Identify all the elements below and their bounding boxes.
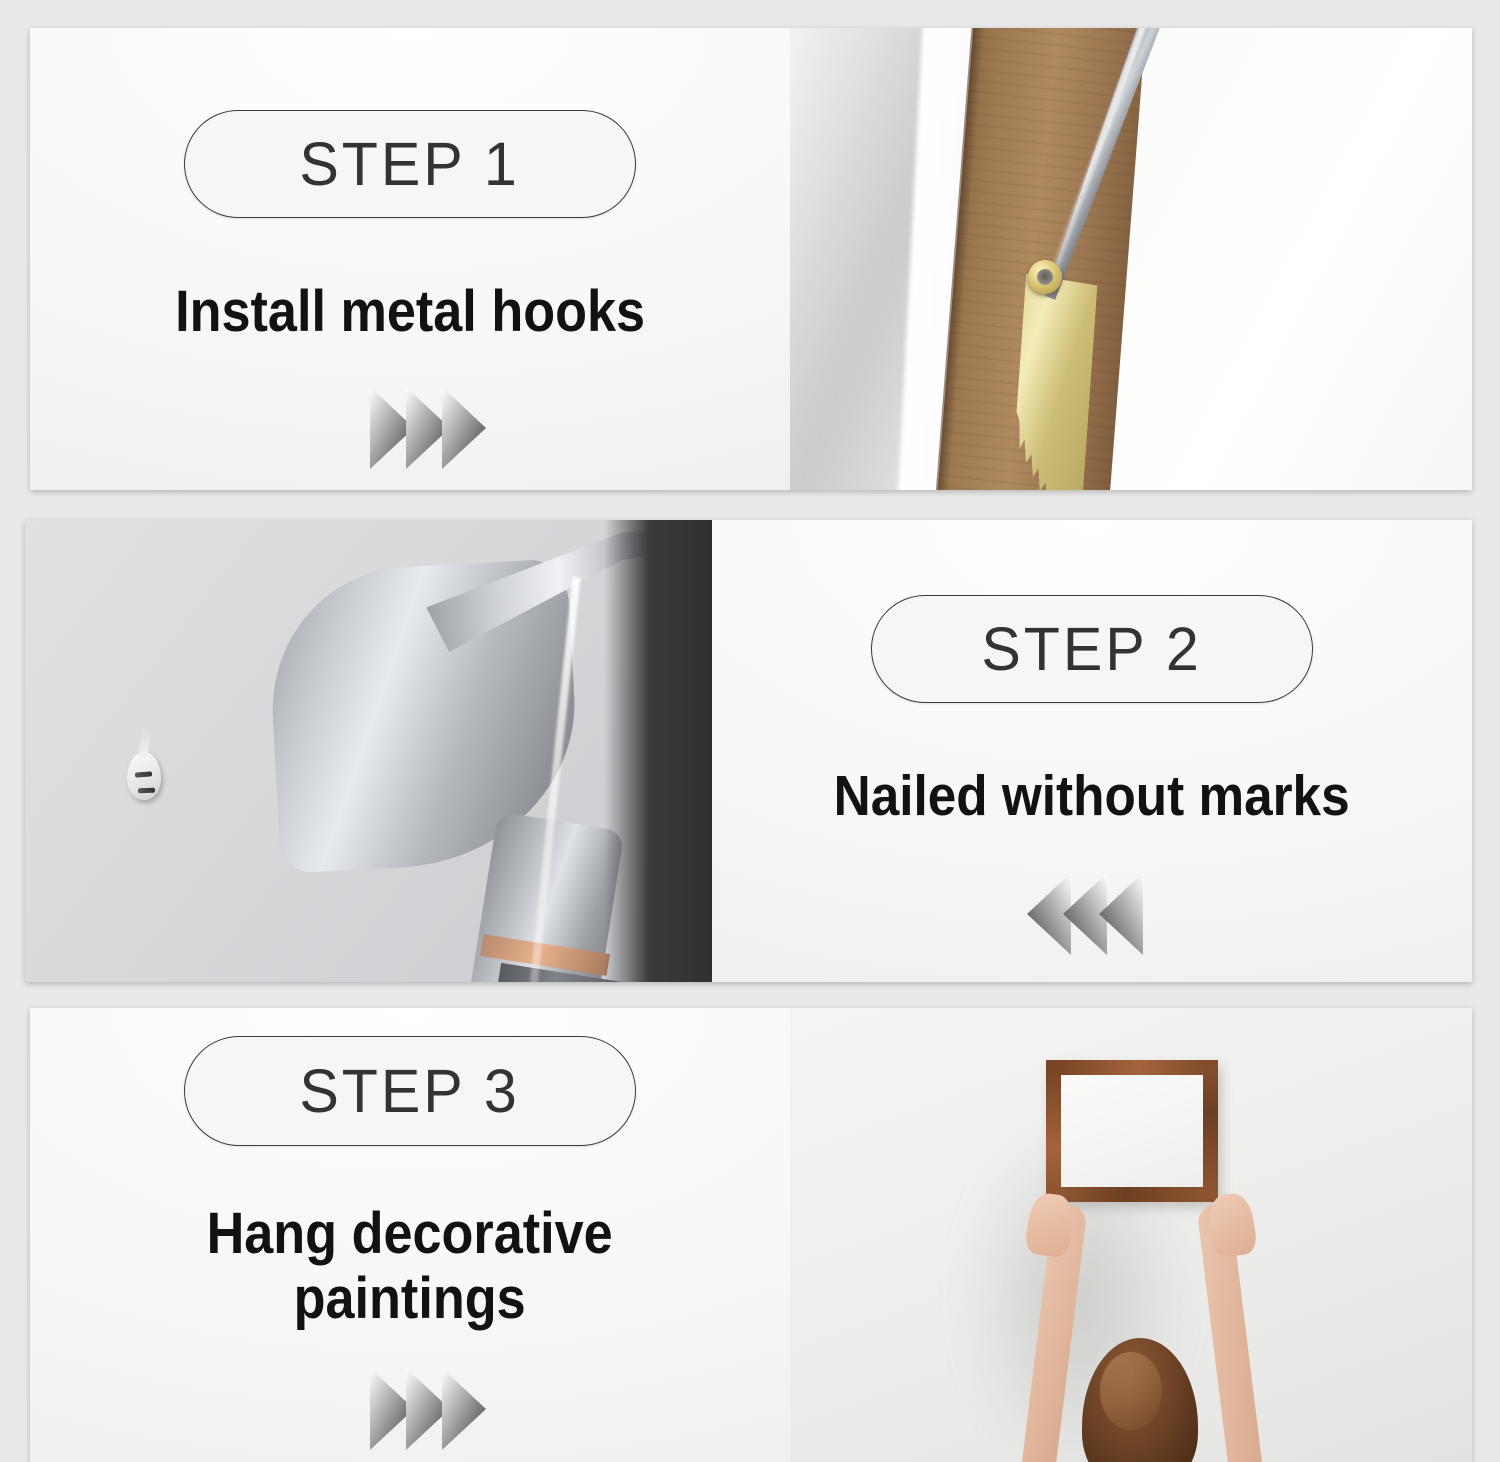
instruction-board: STEP 1 Install metal hooks xyxy=(0,0,1500,1462)
step-3-arrow-right-icon xyxy=(368,1366,498,1452)
step-panel-1: STEP 1 Install metal hooks xyxy=(30,28,1472,490)
step-3-badge-label: STEP 3 xyxy=(300,1061,520,1122)
step-1-photo xyxy=(790,28,1472,490)
step-3-photo xyxy=(790,1008,1472,1462)
step-2-headline: Nailed without marks xyxy=(834,765,1350,829)
step-2-text-pane: STEP 2 Nailed without marks xyxy=(712,520,1472,982)
step-3-text-pane: STEP 3 Hang decorative paintings xyxy=(30,1008,790,1462)
step-2-badge-label: STEP 2 xyxy=(982,619,1202,680)
step-1-headline: Install metal hooks xyxy=(175,280,645,345)
step-1-text-pane: STEP 1 Install metal hooks xyxy=(30,28,790,490)
step-1-badge-label: STEP 1 xyxy=(300,134,520,195)
step-panel-3: STEP 3 Hang decorative paintings xyxy=(30,1008,1472,1462)
step-3-badge: STEP 3 xyxy=(184,1036,636,1146)
step-3-headline: Hang decorative paintings xyxy=(207,1202,613,1332)
step-2-badge: STEP 2 xyxy=(871,595,1313,703)
step-panel-2: STEP 2 Nailed without marks xyxy=(25,520,1472,982)
step-2-photo xyxy=(25,520,712,982)
step-1-badge: STEP 1 xyxy=(184,110,636,218)
step-1-arrow-right-icon xyxy=(368,385,498,471)
step-2-arrow-left-icon xyxy=(1015,871,1145,957)
